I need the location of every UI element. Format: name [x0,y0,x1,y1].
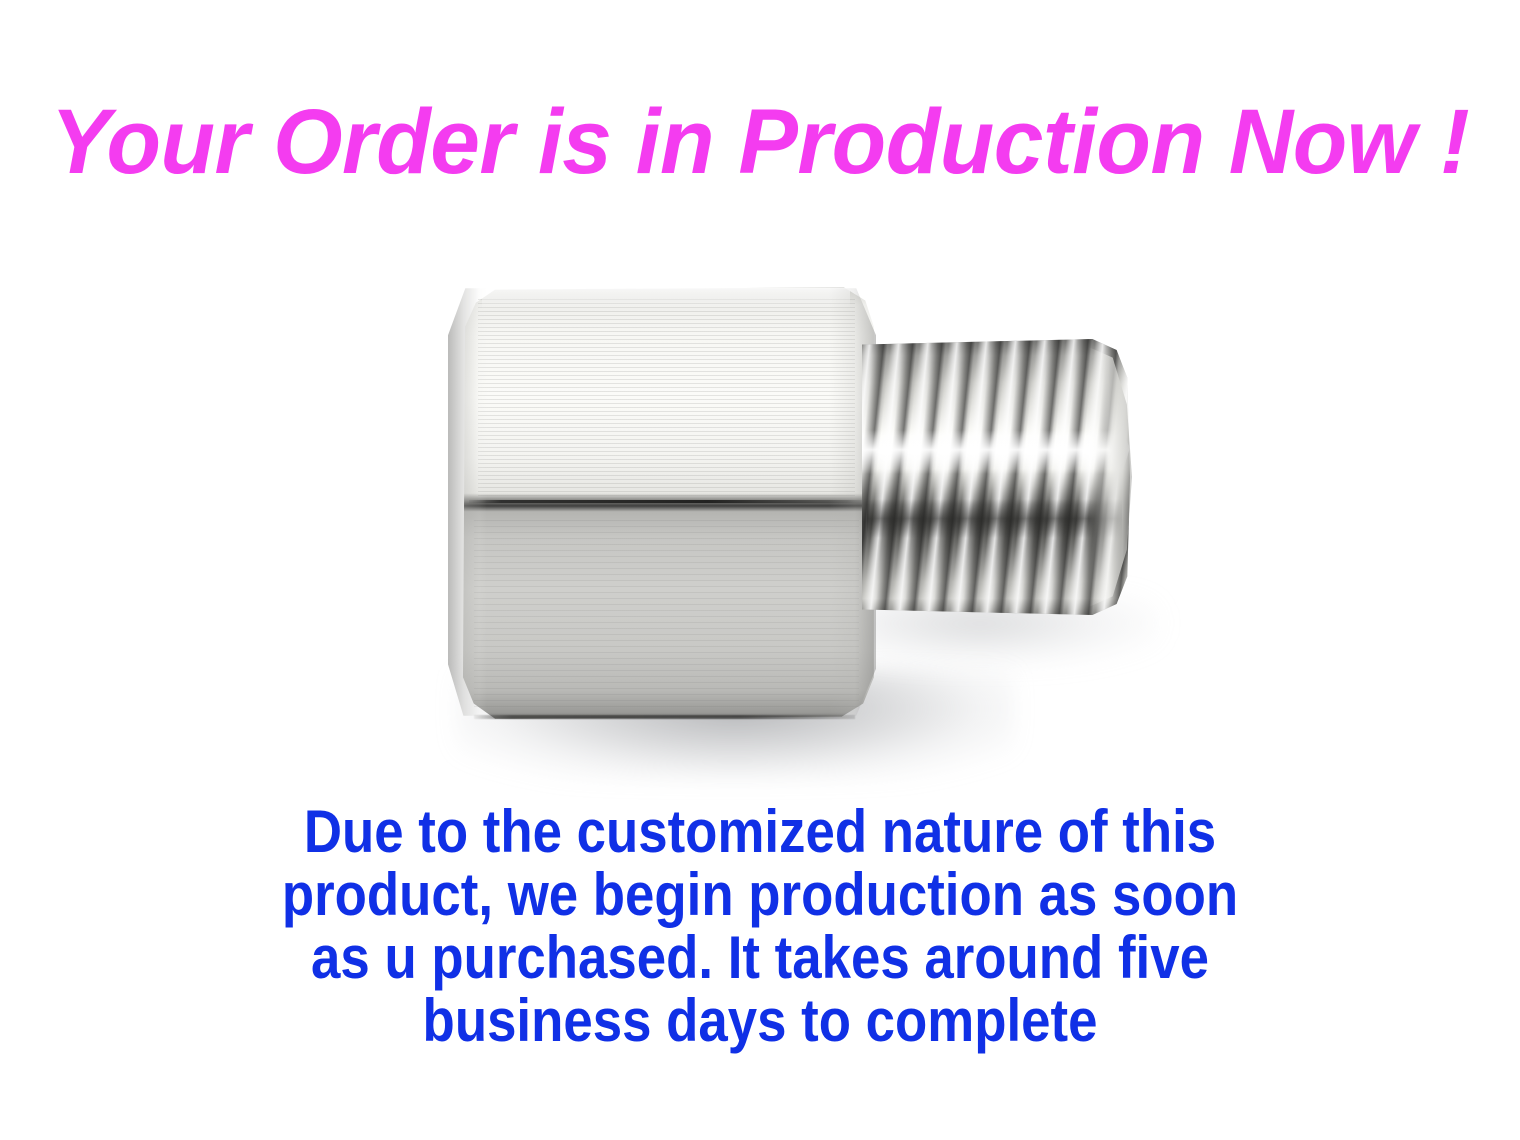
notice-line-1: Due to the customized nature of this [91,800,1429,863]
hex-body-graphic [448,283,876,721]
hex-machining-marks-top [478,296,855,497]
hex-machining-marks-bottom [474,515,859,708]
page-title: Your Order is in Production Now ! [23,96,1497,188]
production-notice: Due to the customized nature of this pro… [91,800,1429,1052]
hex-facet-edge-line [469,500,867,503]
promo-banner: Your Order is in Production Now ! Due [0,0,1520,1140]
notice-line-2: product, we begin production as soon [91,863,1429,926]
notice-line-3: as u purchased. It takes around five [91,926,1429,989]
hex-left-facet-shading [448,288,487,715]
thread-shadow-band [867,499,1122,538]
notice-line-4: business days to complete [91,989,1429,1052]
product-photo [0,215,1520,775]
threaded-nipple-graphic [862,339,1130,615]
hex-top-chamfer-highlight [482,288,850,308]
hex-bottom-edge-line [474,715,855,719]
